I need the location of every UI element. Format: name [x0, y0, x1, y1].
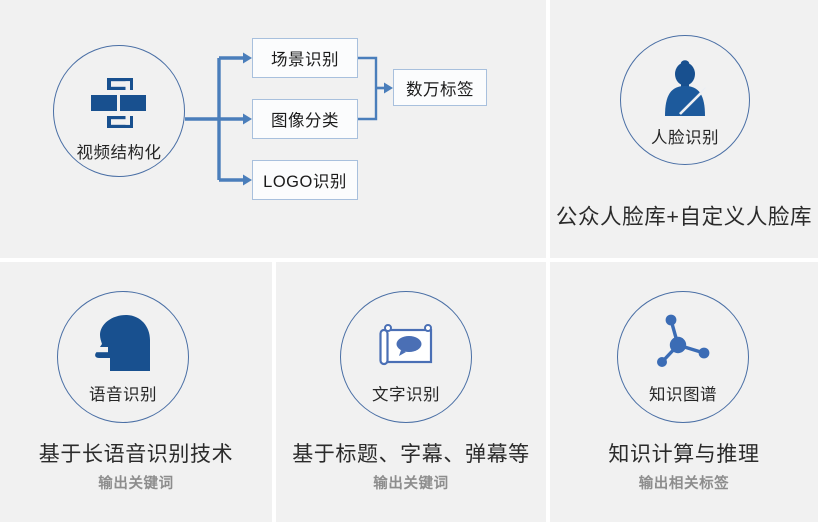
caption-knowledge-graph: 知识计算与推理 输出相关标签 — [550, 441, 818, 496]
face-scan-person-glyph — [658, 60, 712, 116]
caption-text-recognition: 基于标题、字幕、弹幕等 输出关键词 — [276, 441, 546, 496]
medallion-knowledge-graph[interactable]: 知识图谱 — [617, 291, 749, 423]
medallion-label-speech-recognition: 语音识别 — [58, 381, 188, 405]
connector-arrowheads — [243, 53, 252, 186]
knowledge-graph-nodes-glyph — [652, 312, 714, 370]
caption-headline: 基于长语音识别技术 — [0, 441, 272, 469]
caption-face-recognition: 公众人脸库+自定义人脸库 — [550, 203, 818, 231]
caption-sub: 输出相关标签 — [550, 472, 818, 496]
panel-video-structuring: 视频结构化 场景识别 图像分类 LOGO识别 数万标签 — [0, 0, 546, 258]
medallion-label-knowledge-graph: 知识图谱 — [618, 381, 748, 405]
medallion-label-face-recognition: 人脸识别 — [621, 124, 749, 148]
connector-merge — [358, 58, 376, 119]
flow-box-image-classification[interactable]: 图像分类 — [252, 99, 358, 139]
flow-box-label: LOGO识别 — [263, 168, 347, 192]
capability-overview-board: 视频结构化 场景识别 图像分类 LOGO识别 数万标签 — [0, 0, 818, 522]
connector-arrowhead-tags — [384, 83, 393, 94]
medallion-label-video-structuring: 视频结构化 — [54, 139, 184, 163]
speaking-head-profile-icon — [58, 314, 188, 372]
banner-speech-bubble-icon — [341, 314, 471, 372]
caption-sub: 输出关键词 — [0, 472, 272, 496]
caption-speech-recognition: 基于长语音识别技术 输出关键词 — [0, 441, 272, 496]
medallion-face-recognition[interactable]: 人脸识别 — [620, 35, 750, 165]
flow-box-label: 图像分类 — [271, 107, 339, 131]
caption-sub: 输出关键词 — [276, 472, 546, 496]
caption-headline: 基于标题、字幕、弹幕等 — [276, 441, 546, 469]
caption-headline: 知识计算与推理 — [550, 441, 818, 469]
banner-speech-bubble-glyph — [377, 322, 435, 372]
video-structure-blocks-icon — [54, 76, 184, 130]
medallion-label-text-recognition: 文字识别 — [341, 381, 471, 405]
face-scan-person-icon — [621, 60, 749, 116]
medallion-speech-recognition[interactable]: 语音识别 — [57, 291, 189, 423]
medallion-text-recognition[interactable]: 文字识别 — [340, 291, 472, 423]
video-structure-blocks-glyph — [90, 78, 148, 130]
knowledge-graph-nodes-icon — [618, 312, 748, 370]
caption-headline: 公众人脸库+自定义人脸库 — [550, 203, 818, 231]
flow-box-scene-recognition[interactable]: 场景识别 — [252, 38, 358, 78]
flow-box-label: 数万标签 — [406, 76, 474, 100]
flow-box-logo-recognition[interactable]: LOGO识别 — [252, 160, 358, 200]
speaking-head-profile-glyph — [93, 314, 153, 372]
medallion-video-structuring[interactable]: 视频结构化 — [53, 45, 185, 177]
flow-box-label: 场景识别 — [271, 46, 339, 70]
flow-box-tens-of-thousands-tags[interactable]: 数万标签 — [393, 69, 487, 106]
